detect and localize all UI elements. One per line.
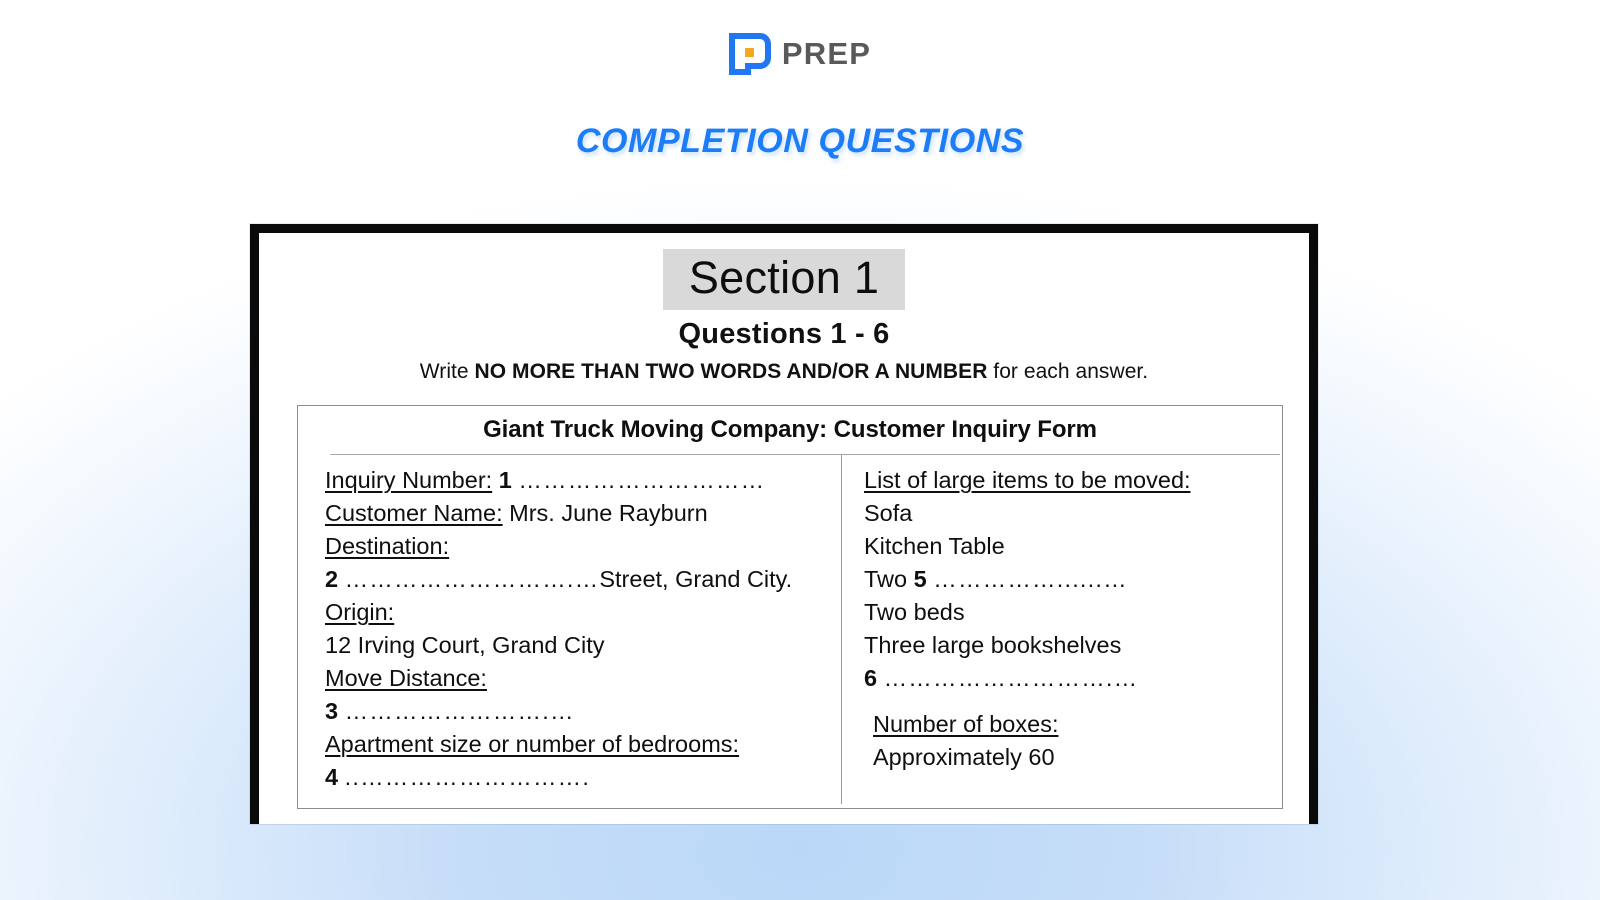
form-line: Apartment size or number of bedrooms: (325, 728, 841, 761)
form-field-label: Origin: (325, 599, 394, 625)
answer-blank[interactable]: ……………………….… (345, 566, 600, 592)
form-line: Three large bookshelves (864, 629, 1282, 662)
form-field-label: Customer Name: (325, 500, 503, 526)
questions-range: Questions 1 - 6 (259, 318, 1309, 351)
form-line: Approximately 60 (864, 741, 1282, 774)
form-field-value: 12 Irving Court, Grand City (325, 632, 605, 658)
form-line-spacer (864, 695, 1282, 708)
prep-logo-icon (729, 33, 771, 75)
form-line: 6 ……………………….… (864, 662, 1282, 695)
form-right-column: List of large items to be moved:SofaKitc… (842, 455, 1282, 804)
question-number: 5 (914, 566, 927, 592)
page-title: COMPLETION QUESTIONS (0, 122, 1600, 161)
form-line: Move Distance: (325, 662, 841, 695)
inquiry-form-box: Giant Truck Moving Company: Customer Inq… (297, 405, 1283, 809)
form-line: Inquiry Number: 1 ………………………… (325, 464, 841, 497)
question-number: 3 (325, 698, 338, 724)
form-line: Two beds (864, 596, 1282, 629)
question-number: 4 (325, 764, 338, 790)
form-left-column: Inquiry Number: 1 …………………………Customer Nam… (298, 455, 841, 804)
form-line: Two 5 ……………......… (864, 563, 1282, 596)
form-line: 12 Irving Court, Grand City (325, 629, 841, 662)
form-field-label: Move Distance: (325, 665, 487, 691)
question-number: 2 (325, 566, 338, 592)
answer-blank[interactable]: ……………......… (933, 566, 1128, 592)
section-banner-wrapper: Section 1 (259, 249, 1309, 310)
form-line: Destination: (325, 530, 841, 563)
slide-frame: Section 1 Questions 1 - 6 Write NO MORE … (250, 224, 1318, 824)
answer-blank[interactable]: ..………………………. (345, 764, 591, 790)
slide-content: Section 1 Questions 1 - 6 Write NO MORE … (259, 233, 1309, 824)
form-field-value: Street, Grand City. (599, 566, 792, 592)
form-line: Sofa (864, 497, 1282, 530)
form-field-value: Sofa (864, 500, 912, 526)
page-root: PREP COMPLETION QUESTIONS Section 1 Ques… (0, 0, 1600, 900)
form-field-label: List of large items to be moved: (864, 467, 1191, 493)
form-field-value: Approximately 60 (873, 744, 1055, 770)
form-field-value: Two beds (864, 599, 965, 625)
instruction-line: Write NO MORE THAN TWO WORDS AND/OR A NU… (259, 360, 1309, 384)
form-line: Origin: (325, 596, 841, 629)
instruction-prefix: Write (420, 360, 475, 383)
instruction-suffix: for each answer. (987, 360, 1148, 383)
form-field-value: Three large bookshelves (864, 632, 1121, 658)
form-field-label: Number of boxes: (873, 711, 1058, 737)
form-field-value: Kitchen Table (864, 533, 1005, 559)
form-title: Giant Truck Moving Company: Customer Inq… (298, 406, 1282, 444)
form-line-prefix: Two (864, 566, 914, 592)
brand-name: PREP (782, 36, 871, 72)
answer-blank[interactable]: ………………………… (518, 467, 765, 493)
answer-blank[interactable]: ……………………….… (884, 665, 1139, 691)
answer-blank[interactable]: …………………….… (345, 698, 575, 724)
form-field-label: Apartment size or number of bedrooms: (325, 731, 739, 757)
form-line: 2 ……………………….…Street, Grand City. (325, 563, 841, 596)
form-line: Number of boxes: (864, 708, 1282, 741)
form-line: 4 ..………………………. (325, 761, 841, 794)
question-number: 6 (864, 665, 877, 691)
form-field-value: Mrs. June Rayburn (503, 500, 708, 526)
brand-header: PREP (0, 33, 1600, 75)
form-field-label: Inquiry Number: (325, 467, 492, 493)
form-field-label: Destination: (325, 533, 449, 559)
form-line: 3 …………………….… (325, 695, 841, 728)
form-line: Kitchen Table (864, 530, 1282, 563)
form-line: List of large items to be moved: (864, 464, 1282, 497)
question-number: 1 (499, 467, 512, 493)
instruction-emphasis: NO MORE THAN TWO WORDS AND/OR A NUMBER (475, 360, 988, 383)
form-line: Customer Name: Mrs. June Rayburn (325, 497, 841, 530)
section-label: Section 1 (663, 249, 905, 310)
form-columns: Inquiry Number: 1 …………………………Customer Nam… (298, 455, 1282, 804)
